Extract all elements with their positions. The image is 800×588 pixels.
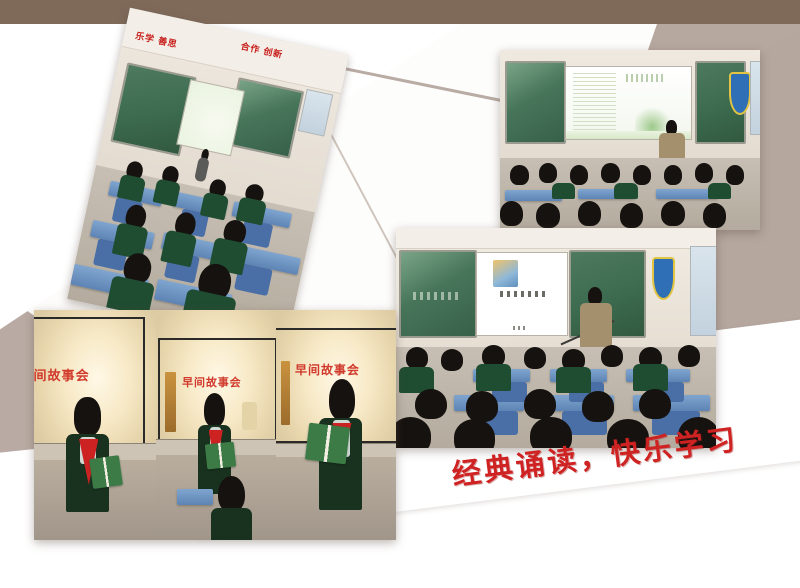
photo-image-story-strip: 早间故事会 早间故事会 bbox=[34, 310, 396, 540]
photo-classroom-teacher-pointer[interactable]: 乐学 善思 bbox=[396, 228, 716, 448]
bottom-band bbox=[0, 570, 800, 588]
photo-classroom-teacher-projection[interactable] bbox=[500, 50, 760, 230]
photo-image-teacher-pointer: 乐学 善思 bbox=[396, 228, 716, 448]
story-cell-girl-right: 早间故事会 bbox=[276, 310, 396, 540]
story-screen-title-1: 早间故事会 bbox=[34, 365, 90, 384]
photo-morning-story-session-strip[interactable]: 早间故事会 早间故事会 bbox=[34, 310, 396, 540]
story-cell-girl-center: 早间故事会 bbox=[156, 310, 278, 540]
story-screen-title-3: 早间故事会 bbox=[295, 361, 360, 378]
photo-image-teacher-projection bbox=[500, 50, 760, 230]
story-screen-title-2: 早间故事会 bbox=[182, 374, 241, 390]
story-cell-boy-reading: 早间故事会 bbox=[34, 310, 158, 540]
top-band bbox=[0, 0, 800, 26]
collage-page: 乐学 善思 合作 创新 bbox=[0, 0, 800, 588]
